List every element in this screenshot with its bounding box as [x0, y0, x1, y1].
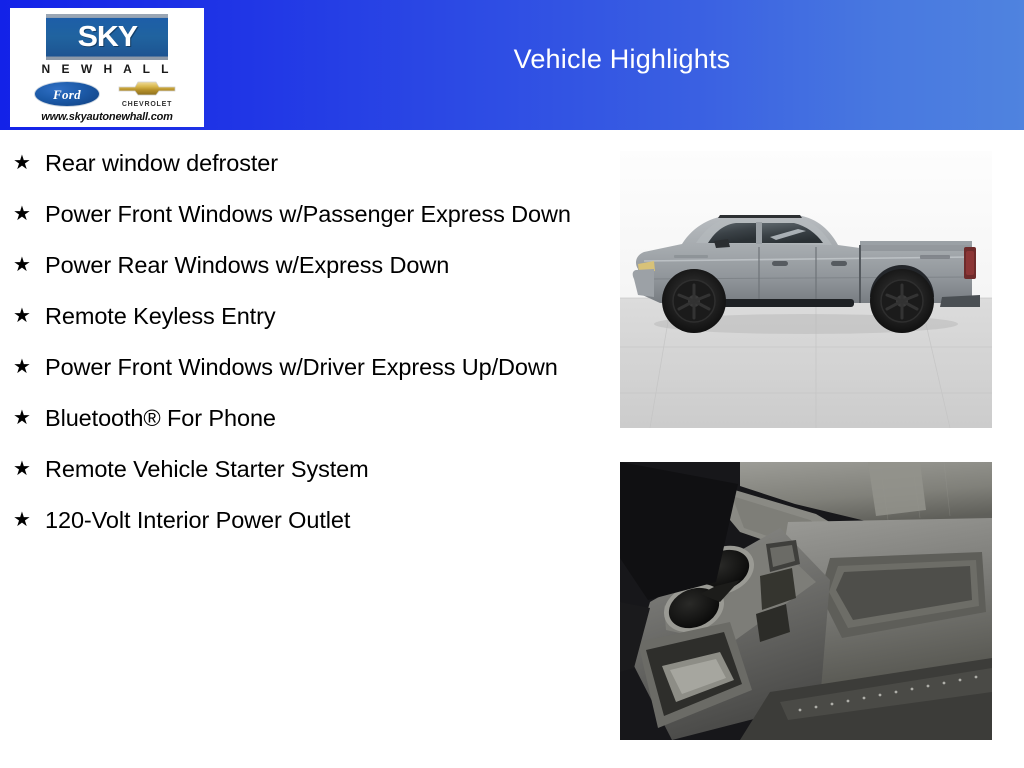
center-console-illustration: [620, 462, 992, 740]
star-icon: ★: [13, 503, 45, 535]
feature-label: Remote Keyless Entry: [45, 299, 575, 334]
feature-label: Rear window defroster: [45, 146, 575, 181]
list-item: ★ Rear window defroster: [0, 146, 600, 181]
star-icon: ★: [13, 452, 45, 484]
list-item: ★ 120-Volt Interior Power Outlet: [0, 503, 600, 538]
list-item: ★ Power Front Windows w/Driver Express U…: [0, 350, 600, 385]
list-item: ★ Power Rear Windows w/Express Down: [0, 248, 600, 283]
feature-label: Power Front Windows w/Driver Express Up/…: [45, 350, 575, 385]
feature-label: Power Rear Windows w/Express Down: [45, 248, 575, 283]
brand-badge-row: Ford CHEVROL: [10, 80, 204, 108]
star-icon: ★: [13, 146, 45, 178]
sky-wordmark: SKY: [77, 23, 136, 52]
page-title: Vehicle Highlights: [220, 0, 1024, 130]
feature-label: Power Front Windows w/Passenger Express …: [45, 197, 575, 232]
list-item: ★ Remote Keyless Entry: [0, 299, 600, 334]
chevrolet-bowtie-icon: [117, 81, 177, 96]
vehicle-interior-photo[interactable]: [620, 462, 992, 740]
list-item: ★ Power Front Windows w/Passenger Expres…: [0, 197, 600, 232]
star-icon: ★: [13, 299, 45, 331]
star-icon: ★: [13, 197, 45, 229]
list-item: ★ Bluetooth® For Phone: [0, 401, 600, 436]
vehicle-exterior-photo[interactable]: [620, 151, 992, 428]
truck-side-illustration: [620, 151, 992, 428]
slide-root: Vehicle Highlights SKY N E W H A L L For…: [0, 0, 1024, 768]
dealer-logo[interactable]: SKY N E W H A L L Ford: [10, 8, 204, 127]
feature-label: 120-Volt Interior Power Outlet: [45, 503, 575, 538]
dealer-location-label: N E W H A L L: [10, 62, 204, 76]
star-icon: ★: [13, 401, 45, 433]
sky-plaque: SKY: [46, 14, 168, 60]
star-icon: ★: [13, 248, 45, 280]
ford-logo-icon: Ford: [34, 81, 100, 107]
star-icon: ★: [13, 350, 45, 382]
dealer-logo-inner: SKY N E W H A L L Ford: [10, 8, 204, 127]
vehicle-features-list: ★ Rear window defroster ★ Power Front Wi…: [0, 146, 600, 554]
chevrolet-wordmark: CHEVROLET: [114, 101, 180, 108]
chevrolet-logo-icon: CHEVROLET: [114, 80, 180, 108]
dealer-website-url[interactable]: www.skyautonewhall.com: [10, 111, 204, 123]
list-item: ★ Remote Vehicle Starter System: [0, 452, 600, 487]
feature-label: Bluetooth® For Phone: [45, 401, 575, 436]
feature-label: Remote Vehicle Starter System: [45, 452, 575, 487]
ford-wordmark: Ford: [53, 88, 81, 101]
